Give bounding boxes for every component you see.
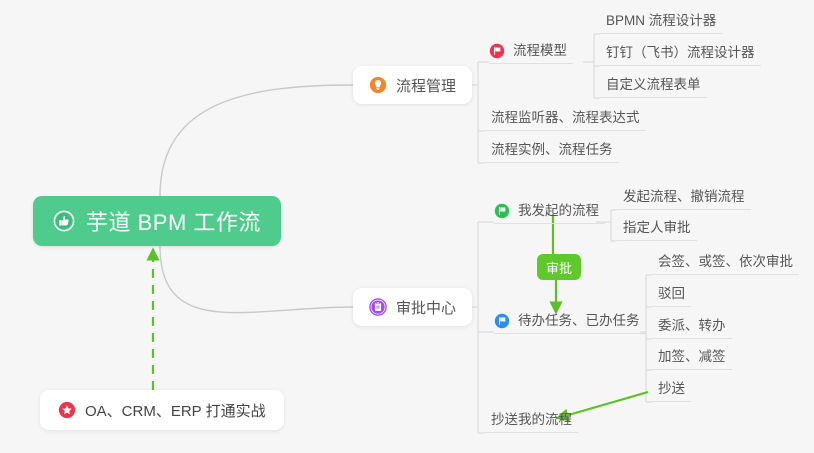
mindmap-canvas: 芋道 BPM 工作流 流程管理 流程模型 BPMN 流程设计器 钉钉（飞书）流程 [0,0,814,453]
edge-process-model-spine [583,34,594,98]
node-process-listener-expression[interactable]: 流程监听器、流程表达式 [485,107,646,131]
node-label-my-initiated-process: 我发起的流程 [518,199,599,219]
branch-node-approval-center[interactable]: 审批中心 [353,288,472,326]
node-bpmn-designer[interactable]: BPMN 流程设计器 [600,10,722,34]
branch-node-process-management[interactable]: 流程管理 [353,66,472,104]
root-node[interactable]: 芋道 BPM 工作流 [33,196,281,246]
flag-circle-icon [494,203,510,219]
node-label-start-cancel-process: 发起流程、撤销流程 [623,185,745,205]
node-process-model[interactable]: 流程模型 [489,40,573,64]
branch-label-process-management: 流程管理 [396,75,456,96]
edge-root-to-approval-center [160,246,353,313]
node-label-cc: 抄送 [658,377,685,397]
node-label-assignee-approval: 指定人审批 [623,216,691,236]
node-dingtalk-feishu-designer[interactable]: 钉钉（飞书）流程设计器 [600,42,761,66]
root-node-label: 芋道 BPM 工作流 [86,205,261,237]
node-custom-process-form[interactable]: 自定义流程表单 [600,74,707,98]
node-start-cancel-process[interactable]: 发起流程、撤销流程 [617,186,751,210]
node-label-process-instance-task: 流程实例、流程任务 [491,138,613,158]
edge-approval-center-spine [461,222,478,433]
flag-circle-icon [489,43,505,59]
edge-todo-spine [640,275,646,402]
node-label-bpmn-designer: BPMN 流程设计器 [606,9,716,29]
star-circle-icon [58,401,76,419]
node-label-todo-done-tasks: 待办任务、已办任务 [518,309,640,329]
node-cc[interactable]: 抄送 [652,378,691,402]
flag-circle-icon [494,313,510,329]
node-todo-done-tasks[interactable]: 待办任务、已办任务 [494,310,646,334]
approval-callout-label: 审批 [546,258,572,277]
node-process-instance-task[interactable]: 流程实例、流程任务 [485,139,619,163]
node-countersign-orsign-sequential[interactable]: 会签、或签、依次审批 [652,251,799,275]
node-label-process-listener-expression: 流程监听器、流程表达式 [491,106,640,126]
node-cc-to-me-process[interactable]: 抄送我的流程 [485,409,578,433]
node-label-reject: 驳回 [658,282,685,302]
detached-node-oa-crm-erp[interactable]: OA、CRM、ERP 打通实战 [40,390,284,430]
node-label-countersign-orsign-sequential: 会签、或签、依次审批 [658,250,793,270]
node-my-initiated-process[interactable]: 我发起的流程 [494,200,605,224]
node-label-add-remove-sign: 加签、减签 [658,345,726,365]
edge-root-to-process-management [160,85,353,196]
node-reject[interactable]: 驳回 [652,283,691,307]
node-label-dingtalk-feishu-designer: 钉钉（飞书）流程设计器 [606,41,755,61]
lightbulb-circle-icon [369,76,387,94]
node-label-cc-to-me-process: 抄送我的流程 [491,408,572,428]
thumbs-up-icon [53,210,75,232]
node-label-custom-process-form: 自定义流程表单 [606,73,701,93]
node-add-remove-sign[interactable]: 加签、减签 [652,346,732,370]
branch-label-approval-center: 审批中心 [396,297,456,318]
clipboard-circle-icon [369,298,387,316]
node-assignee-approval[interactable]: 指定人审批 [617,217,697,241]
node-label-process-model: 流程模型 [513,39,567,59]
approval-callout[interactable]: 审批 [537,254,581,280]
node-label-delegate-transfer: 委派、转办 [658,314,726,334]
detached-node-label: OA、CRM、ERP 打通实战 [85,400,266,421]
node-delegate-transfer[interactable]: 委派、转办 [652,315,732,339]
